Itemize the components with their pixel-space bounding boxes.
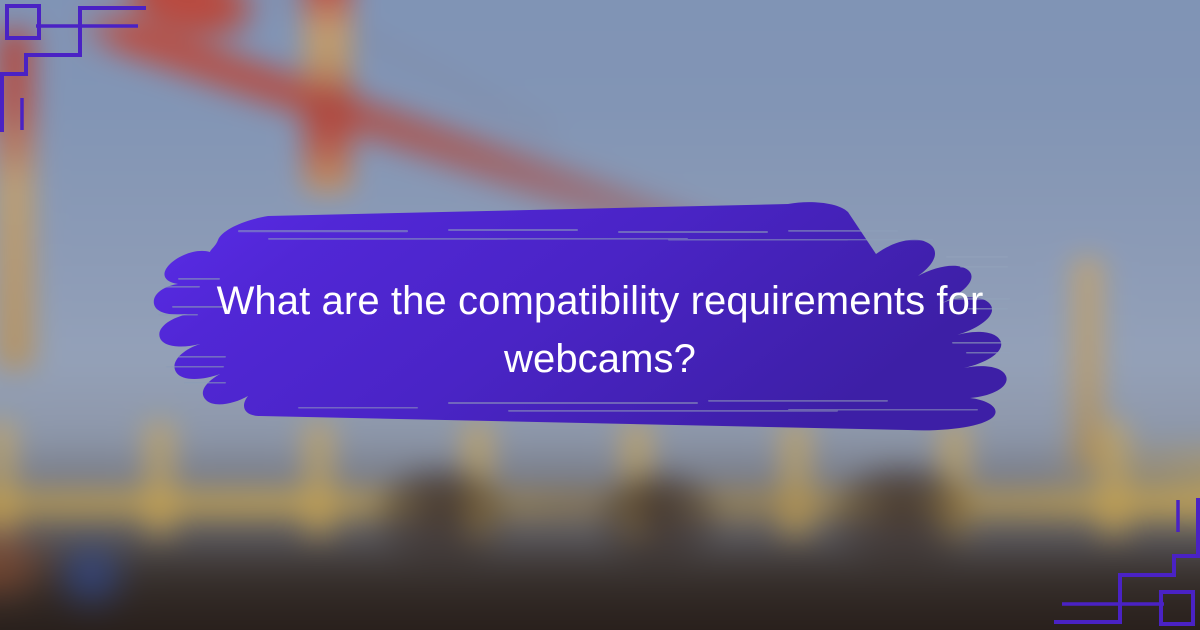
crane-mast-center (303, 0, 352, 193)
corner-bracket-icon (0, 0, 160, 140)
corner-ornament-bottom-right (1040, 490, 1200, 630)
corner-bracket-icon (1040, 490, 1200, 630)
question-card: What are the compatibility requirements … (0, 0, 1200, 630)
corner-ornament-top-left (0, 0, 160, 140)
foreground-blob-blue (49, 532, 134, 617)
foreground-shadow (0, 532, 1200, 630)
page-title: What are the compatibility requirements … (190, 272, 1010, 388)
